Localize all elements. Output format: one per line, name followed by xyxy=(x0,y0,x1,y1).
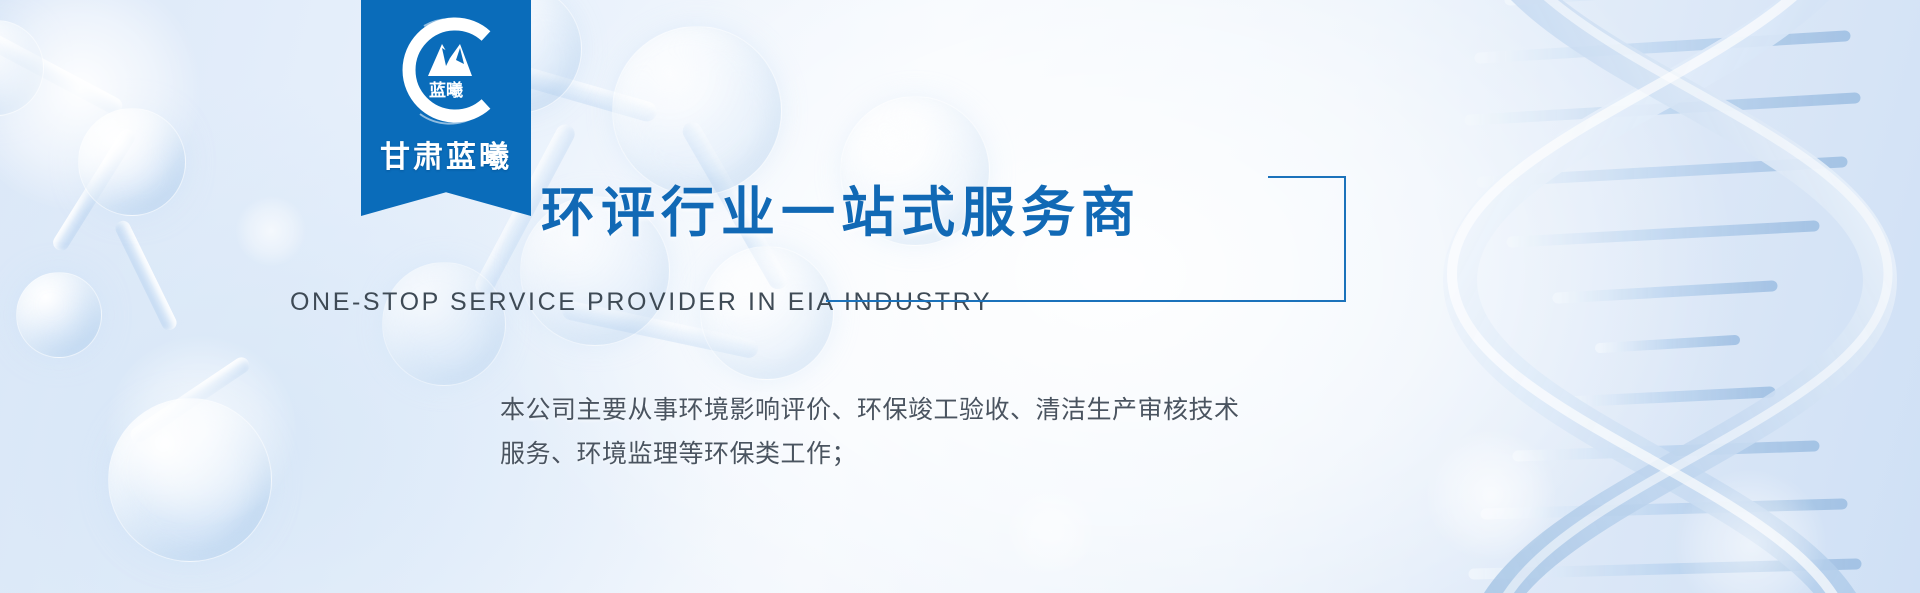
molecule-atom xyxy=(0,20,44,116)
company-emblem-icon: 蓝曦 xyxy=(390,14,502,126)
body-line: 服务、环境监理等环保类工作； xyxy=(500,432,1240,476)
body-line: 本公司主要从事环境影响评价、环保竣工验收、清洁生产审核技术 xyxy=(500,388,1240,432)
bokeh-glow xyxy=(0,0,200,210)
molecule-atom xyxy=(108,398,272,562)
accent-bracket-side xyxy=(1344,176,1346,302)
accent-bracket-top xyxy=(1268,176,1346,178)
emblem-wordmark: 蓝曦 xyxy=(429,80,463,101)
molecule-atom xyxy=(16,272,102,358)
molecule-bond xyxy=(50,126,138,253)
page-title: 环评行业一站式服务商 xyxy=(541,168,1141,247)
molecule-atom xyxy=(382,262,506,386)
hero-banner: 蓝曦 甘肃蓝曦 环评行业一站式服务商 ONE-STOP SERVICE PROV… xyxy=(0,0,1920,593)
bokeh-glow xyxy=(106,336,296,526)
page-subtitle: ONE-STOP SERVICE PROVIDER IN EIA INDUSTR… xyxy=(290,288,992,317)
molecule-bond xyxy=(113,218,179,332)
bokeh-glow xyxy=(236,196,306,266)
dna-helix-decoration xyxy=(1390,0,1920,593)
company-short-name: 甘肃蓝曦 xyxy=(380,132,512,176)
molecule-bond xyxy=(127,354,252,446)
accent-rule xyxy=(826,300,1346,302)
company-badge: 蓝曦 甘肃蓝曦 xyxy=(361,0,531,216)
molecule-atom xyxy=(78,108,186,216)
body-description: 本公司主要从事环境影响评价、环保竣工验收、清洁生产审核技术 服务、环境监理等环保… xyxy=(500,388,1240,476)
bokeh-glow xyxy=(1006,486,1096,576)
molecule-bond xyxy=(0,32,125,117)
